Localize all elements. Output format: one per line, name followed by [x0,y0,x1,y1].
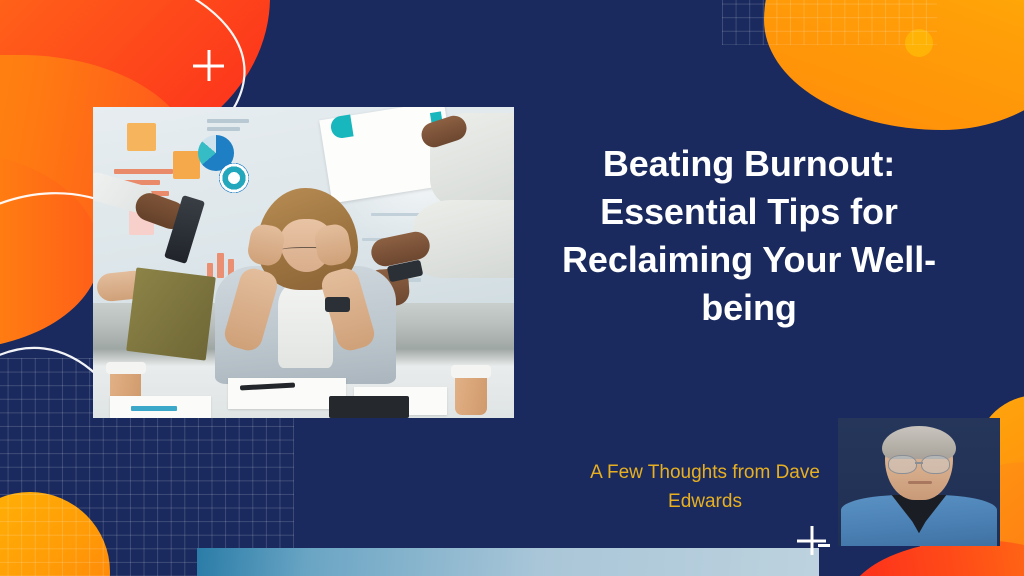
photo-ring-chart [219,163,248,193]
decorative-blob-top-right-orange [764,0,1024,130]
presenter-webcam-overlay[interactable] [838,418,1000,546]
hero-photo [93,107,514,418]
webcam-glasses-bridge [915,462,924,464]
decorative-circle-bottom-left [0,492,110,576]
decorative-blob-left-orange [0,150,100,350]
photo-chart-text-line [207,119,249,123]
plus-icon-top-left [193,50,224,81]
photo-folder [126,267,216,360]
photo-paper-chart [131,406,177,411]
photo-chart-bar [217,253,224,278]
presentation-slide: Beating Burnout: Essential Tips for Recl… [0,0,1024,576]
photo-coffee-lid [106,362,146,374]
photo-sticky-note [173,151,200,179]
decorative-dash [818,544,830,547]
webcam-glasses-lens-left [888,455,916,474]
subtitle-block: A Few Thoughts from Dave Edwards [555,458,855,517]
decorative-grid-top-right [722,0,937,45]
webcam-glasses-lens-right [921,455,949,474]
decorative-dot-top-right [905,29,933,57]
bottom-slide-panel [197,548,819,576]
presenter-subtitle: A Few Thoughts from Dave Edwards [555,458,855,517]
photo-coffee-lid [451,365,491,377]
photo-chart-bar [114,169,173,174]
webcam-glasses [888,455,950,472]
photo-person-wristwatch [325,297,350,313]
photo-coffee-cup [455,371,487,415]
photo-sticky-note [127,123,156,151]
photo-chart-text-line [207,127,241,131]
page-title: Beating Burnout: Essential Tips for Recl… [545,140,953,332]
photo-tablet [329,396,409,418]
title-block: Beating Burnout: Essential Tips for Recl… [545,140,953,332]
webcam-mouth [908,481,932,484]
